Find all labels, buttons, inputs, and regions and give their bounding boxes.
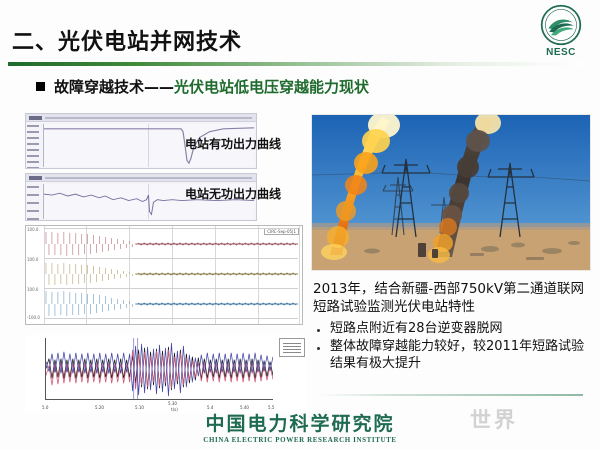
reactive-power-label: 电站无功出力曲线 [185,185,281,202]
right-text-underline [313,394,583,396]
subtitle: 故障穿越技术—— 光伏电站低电压穿越能力现状 [36,76,369,97]
waveform-legend [279,338,305,357]
subtitle-part2: 光伏电站低电压穿越能力现状 [174,76,369,97]
chart-header-bar [26,114,256,122]
list-item: 短路点附近有28台逆变器脱网 [313,321,591,338]
scope-phase-b [44,260,298,288]
footer: 中国电力科学研究院 CHINA ELECTRIC POWER RESEARCH … [0,408,600,450]
short-circuit-test-photo [311,114,591,271]
institute-name-cn: 中国电力科学研究院 [205,415,394,434]
chart-voltage-waveform: 5.0 5.20 5.10 5.30 t(s) 5.4 5.40 5.5 [25,335,307,413]
scope-ylabel-3: -100.0 [27,315,40,320]
chart-header-bar-2 [26,174,256,182]
waveform-plot-area [45,338,273,400]
chart-three-phase-scope: CIRC-Sep-05|1 100.0 100.0 100.0 -100.0 [25,225,303,325]
slide: NESC 二、光伏电站并网技术 故障穿越技术—— 光伏电站低电压穿越能力现状 [0,0,600,450]
list-item: 整体故障穿越能力较好，较2011年短路试验结果有极大提升 [313,339,591,373]
scope-phase-a [44,230,298,258]
findings-list: 短路点附近有28台逆变器脱网 整体故障穿越能力较好，较2011年短路试验结果有极… [313,321,591,373]
chart-tag-icon-2 [29,176,42,180]
nesc-emblem-icon [540,4,582,46]
scope-ylabel-2: 100.0 [27,287,38,292]
page-title: 二、光伏电站并网技术 [12,24,242,56]
scope-ylabel-1: 100.0 [27,257,38,262]
chart-column: 电站有功出力曲线 电站无功出力曲线 [25,113,307,413]
subtitle-part1: 故障穿越技术—— [54,76,174,97]
institute-name-en: CHINA ELECTRIC POWER RESEARCH INSTITUTE [203,436,396,444]
summary-paragraph: 2013年，结合新疆-西部750kV第二通道联网短路试验监测光伏电站特性 [313,281,591,317]
active-power-label: 电站有功出力曲线 [185,135,281,152]
right-text-block: 2013年，结合新疆-西部750kV第二通道联网短路试验监测光伏电站特性 短路点… [313,281,591,374]
scope-phase-c [44,290,298,318]
scope-ylabel-0: 100.0 [27,227,38,232]
y-axis-ticks-2 [26,182,43,221]
chart-header-rule [45,117,252,119]
square-bullet-icon [36,82,45,91]
chart-header-rule-2 [45,177,252,179]
nesc-logo: NESC [530,4,592,62]
y-axis-ticks [26,122,43,169]
logo-label: NESC [546,47,576,58]
title-divider [8,62,586,66]
waveform-xtick-3: 5.30 [168,401,177,406]
chart-tag-icon [29,116,42,120]
